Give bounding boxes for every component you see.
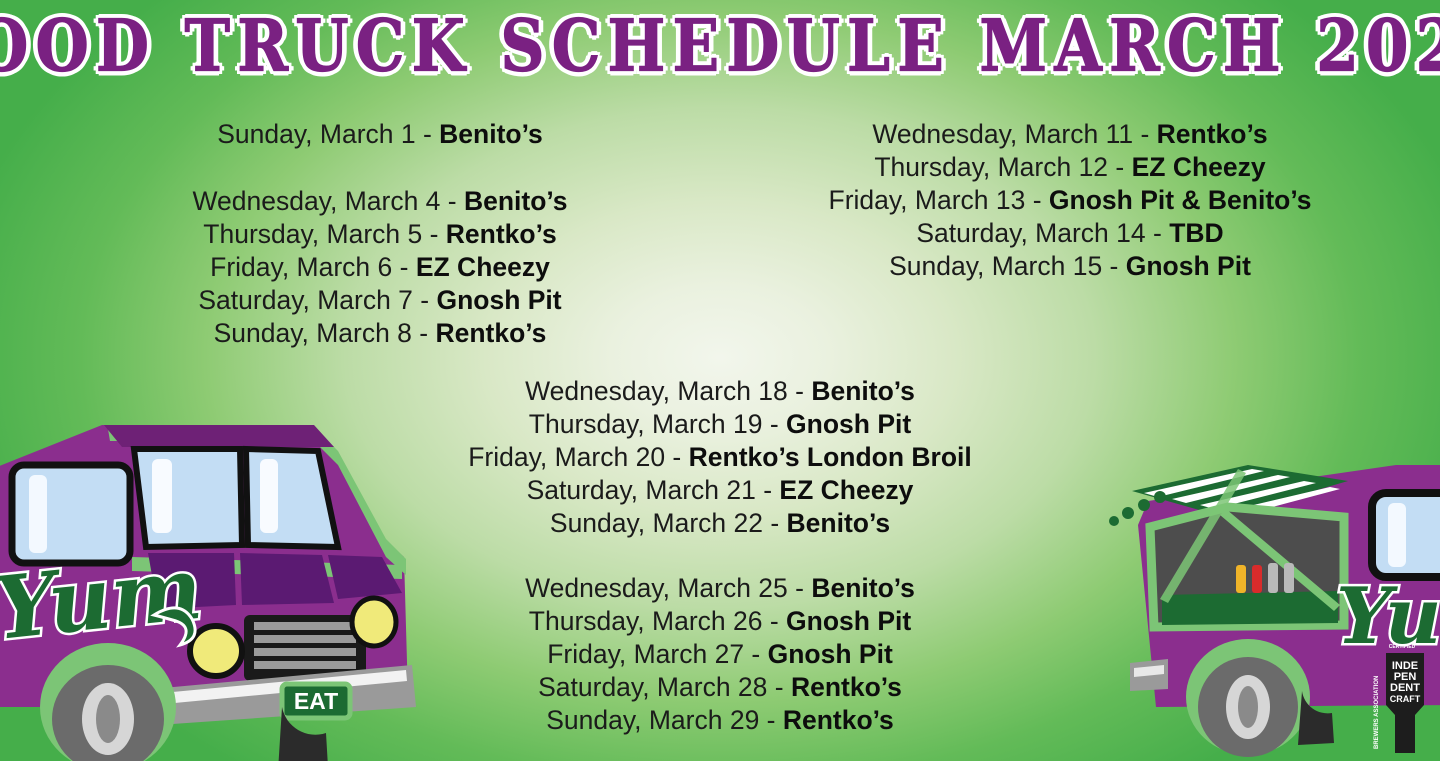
schedule-line: Sunday, March 1 - Benito’s [0,118,760,151]
truck-left-license-plate-text: EAT [294,688,338,714]
schedule-line: Wednesday, March 25 - Benito’s [340,572,1100,605]
schedule-block-week2: Wednesday, March 4 - Benito’sThursday, M… [0,185,760,350]
schedule-date: Saturday, March 7 - [198,285,436,315]
schedule-line: Sunday, March 15 - Gnosh Pit [700,250,1440,283]
schedule-date: Thursday, March 12 - [874,152,1131,182]
schedule-date: Wednesday, March 11 - [872,119,1156,149]
truck-left-windshield-glare-1 [152,459,172,533]
schedule-date: Sunday, March 1 - [217,119,439,149]
schedule-vendor: Rentko’s [1157,119,1268,149]
truck-left-windshield-glare-2 [260,459,278,533]
truck-left-hood-panel-2 [240,553,334,605]
schedule-vendor: Gnosh Pit [786,409,911,439]
schedule-line: Sunday, March 22 - Benito’s [340,507,1100,540]
schedule-date: Saturday, March 14 - [916,218,1169,248]
schedule-vendor: Benito’s [811,376,915,406]
schedule-block-week3: Wednesday, March 11 - Rentko’sThursday, … [700,118,1440,283]
truck-right-hubcap-inner [1238,686,1258,728]
schedule-date: Sunday, March 22 - [550,508,787,538]
schedule-vendor: Rentko’s [435,318,546,348]
schedule-line: Friday, March 20 - Rentko’s London Broil [340,441,1100,474]
schedule-date: Sunday, March 29 - [546,705,783,735]
schedule-date: Wednesday, March 25 - [525,573,811,603]
schedule-block-week5: Wednesday, March 25 - Benito’sThursday, … [340,572,1100,737]
schedule-date: Friday, March 27 - [547,639,767,669]
schedule-vendor: Gnosh Pit [436,285,561,315]
schedule-date: Saturday, March 28 - [538,672,791,702]
schedule-vendor: EZ Cheezy [1132,152,1266,182]
schedule-vendor: Rentko’s [783,705,894,735]
truck-left-windshield-pane-1 [134,449,242,547]
schedule-vendor: Benito’s [439,119,543,149]
food-truck-right-illustration: Yum INDE PEN DENT CRAFT CERTIFIED BREWER… [1096,435,1440,761]
schedule-line: Thursday, March 5 - Rentko’s [0,218,760,251]
schedule-vendor: Benito’s [811,573,915,603]
truck-left-roof [104,425,334,447]
schedule-line: Wednesday, March 18 - Benito’s [340,375,1100,408]
schedule-date: Thursday, March 19 - [529,409,786,439]
schedule-vendor: Gnosh Pit & Benito’s [1049,185,1312,215]
schedule-line: Friday, March 6 - EZ Cheezy [0,251,760,284]
schedule-vendor: Gnosh Pit [768,639,893,669]
schedule-line: Sunday, March 29 - Rentko’s [340,704,1100,737]
schedule-line: Sunday, March 8 - Rentko’s [0,317,760,350]
schedule-line: Thursday, March 12 - EZ Cheezy [700,151,1440,184]
schedule-line: Friday, March 13 - Gnosh Pit & Benito’s [700,184,1440,217]
schedule-date: Friday, March 13 - [829,185,1049,215]
schedule-date: Sunday, March 15 - [889,251,1126,281]
schedule-date: Wednesday, March 18 - [525,376,811,406]
poster-canvas: EAT Yum [0,0,1440,761]
schedule-block-week4: Wednesday, March 18 - Benito’sThursday, … [340,375,1100,540]
svg-text:CERTIFIED: CERTIFIED [1389,644,1416,650]
schedule-vendor: Rentko’s [446,219,557,249]
schedule-date: Sunday, March 8 - [214,318,436,348]
truck-left-hubcap-inner [96,695,120,743]
schedule-block-week1: Sunday, March 1 - Benito’s [0,118,760,151]
svg-text:CRAFT: CRAFT [1390,694,1421,704]
schedule-date: Thursday, March 26 - [529,606,786,636]
schedule-line: Saturday, March 14 - TBD [700,217,1440,250]
schedule-date: Friday, March 20 - [468,442,688,472]
svg-text:DENT: DENT [1390,682,1420,694]
truck-right-counter [1162,591,1338,625]
truck-left-side-window-glare [29,475,47,553]
schedule-vendor: Benito’s [464,186,568,216]
schedule-vendor: Rentko’s London Broil [689,442,972,472]
svg-text:BREWERS ASSOCIATION: BREWERS ASSOCIATION [1374,676,1380,749]
truck-right-cab-window-glare [1388,503,1406,567]
schedule-vendor: Gnosh Pit [1126,251,1251,281]
schedule-vendor: EZ Cheezy [779,475,913,505]
schedule-vendor: TBD [1169,218,1223,248]
schedule-date: Thursday, March 5 - [203,219,446,249]
schedule-date: Friday, March 6 - [210,252,416,282]
schedule-line: Saturday, March 21 - EZ Cheezy [340,474,1100,507]
schedule-vendor: EZ Cheezy [416,252,550,282]
schedule-line: Friday, March 27 - Gnosh Pit [340,638,1100,671]
schedule-line: Thursday, March 19 - Gnosh Pit [340,408,1100,441]
schedule-line: Saturday, March 28 - Rentko’s [340,671,1100,704]
poster-title: FOOD TRUCK SCHEDULE MARCH 2020 [0,6,1440,89]
schedule-vendor: Gnosh Pit [786,606,911,636]
schedule-line: Wednesday, March 4 - Benito’s [0,185,760,218]
schedule-line: Saturday, March 7 - Gnosh Pit [0,284,760,317]
schedule-date: Wednesday, March 4 - [192,186,464,216]
poster-title-container: FOOD TRUCK SCHEDULE MARCH 2020 [0,4,1440,90]
schedule-line: Thursday, March 26 - Gnosh Pit [340,605,1100,638]
schedule-date: Saturday, March 21 - [527,475,780,505]
schedule-vendor: Benito’s [787,508,891,538]
schedule-vendor: Rentko’s [791,672,902,702]
schedule-line: Wednesday, March 11 - Rentko’s [700,118,1440,151]
